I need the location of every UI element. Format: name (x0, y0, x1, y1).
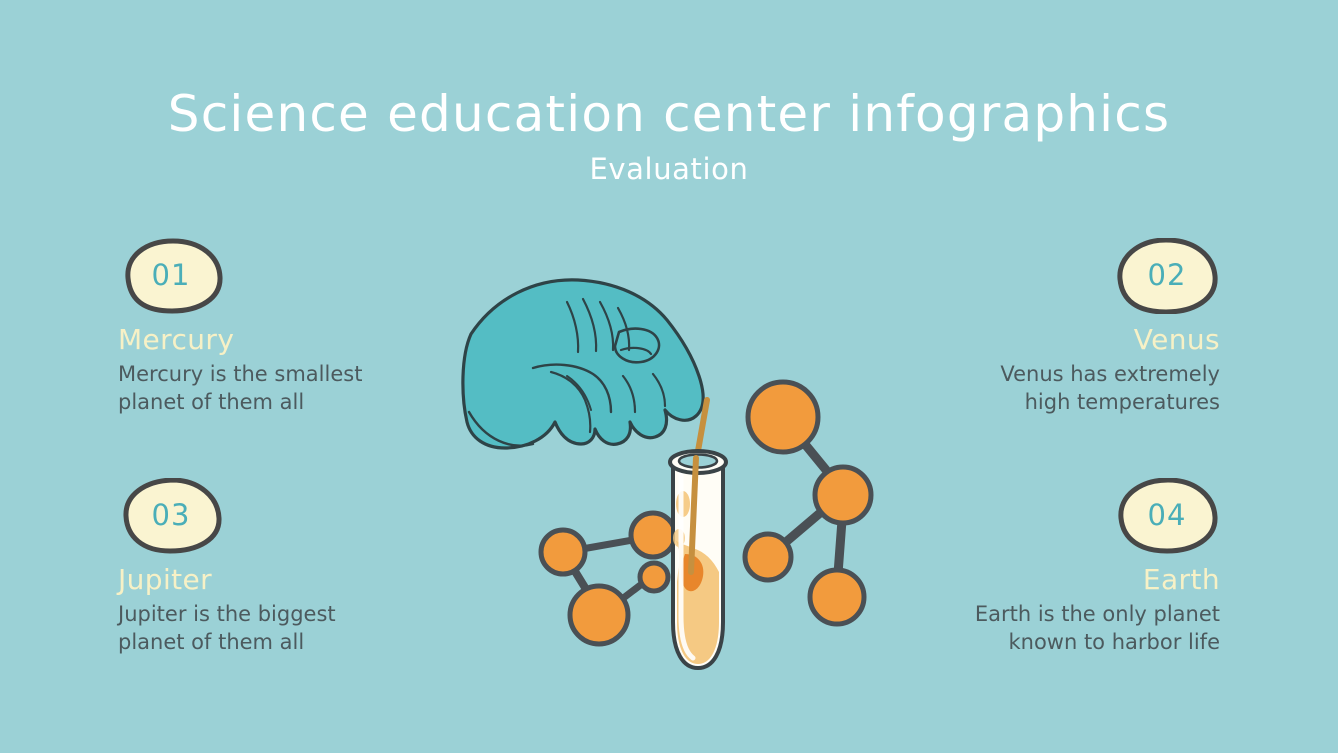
info-item-04[interactable]: 04 Earth Earth is the only planet known … (900, 478, 1220, 657)
number-badge-04: 04 (1114, 478, 1220, 554)
slide-canvas: Science education center infographics Ev… (0, 0, 1338, 753)
number-badge-03: 03 (118, 478, 224, 554)
badge-number-text: 04 (1114, 478, 1220, 554)
item-title-01: Mercury (118, 325, 438, 354)
gloved-hand-icon (463, 280, 703, 448)
page-subtitle: Evaluation (0, 155, 1338, 184)
badge-number-text: 02 (1114, 238, 1220, 314)
item-title-04: Earth (900, 565, 1220, 594)
number-badge-01: 01 (118, 238, 224, 314)
page-title: Science education center infographics (0, 88, 1338, 141)
item-description-01: Mercury is the smallest planet of them a… (118, 361, 438, 416)
item-description-02: Venus has extremely high temperatures (900, 361, 1220, 416)
science-illustration (455, 272, 885, 684)
item-description-03: Jupiter is the biggest planet of them al… (118, 601, 438, 656)
molecule-left-icon (541, 513, 675, 644)
number-badge-02: 02 (1114, 238, 1220, 314)
badge-number-text: 01 (118, 238, 224, 314)
item-description-04: Earth is the only planet known to harbor… (900, 601, 1220, 656)
info-item-02[interactable]: 02 Venus Venus has extremely high temper… (900, 238, 1220, 417)
info-item-03[interactable]: 03 Jupiter Jupiter is the biggest planet… (118, 478, 438, 657)
test-tube-icon (670, 451, 726, 668)
item-title-02: Venus (900, 325, 1220, 354)
slide-header: Science education center infographics Ev… (0, 0, 1338, 184)
info-item-01[interactable]: 01 Mercury Mercury is the smallest plane… (118, 238, 438, 417)
illustration-svg (455, 272, 885, 684)
badge-number-text: 03 (118, 478, 224, 554)
item-title-03: Jupiter (118, 565, 438, 594)
molecule-right-icon (745, 382, 871, 624)
